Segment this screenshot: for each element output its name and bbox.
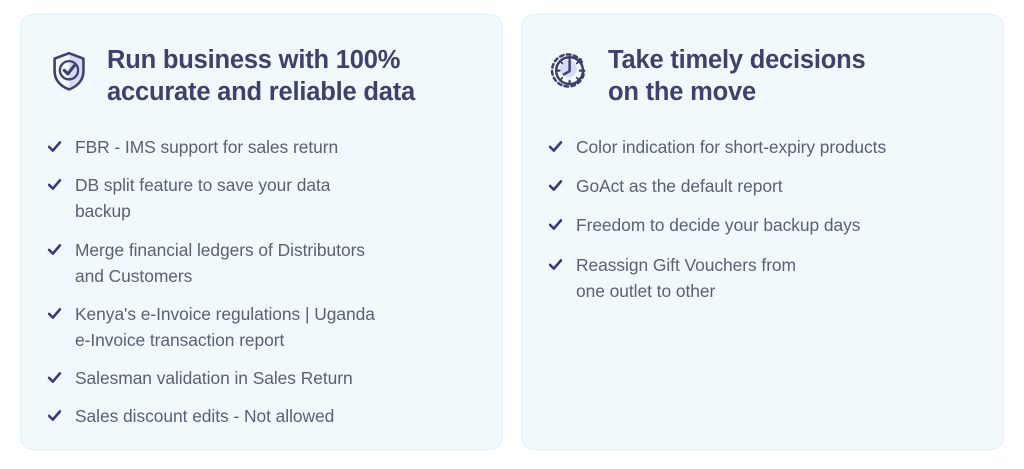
list-item-label: Color indication for short-expiry produc… bbox=[576, 134, 977, 160]
check-icon bbox=[47, 242, 62, 257]
feature-card-accurate-data: Run business with 100% accurate and reli… bbox=[20, 14, 503, 450]
check-icon bbox=[548, 217, 563, 232]
list-item: Merge financial ledgers of Distributors … bbox=[47, 237, 476, 289]
card-header: Take timely decisions on the move bbox=[548, 44, 977, 108]
list-item-label: Freedom to decide your backup days bbox=[576, 212, 977, 238]
feature-list: Color indication for short-expiry produc… bbox=[548, 134, 977, 304]
list-item: Color indication for short-expiry produc… bbox=[548, 134, 977, 160]
check-icon bbox=[548, 139, 563, 154]
card-title: Run business with 100% accurate and reli… bbox=[107, 44, 476, 108]
list-item-label: DB split feature to save your data backu… bbox=[75, 172, 476, 224]
list-item-label: Kenya's e-Invoice regulations | Uganda e… bbox=[75, 301, 476, 353]
feature-card-timely-decisions: Take timely decisions on the move Color … bbox=[521, 14, 1004, 450]
list-item: Sales discount edits - Not allowed bbox=[47, 403, 476, 429]
check-icon bbox=[47, 139, 62, 154]
list-item: Kenya's e-Invoice regulations | Uganda e… bbox=[47, 301, 476, 353]
feature-cards-container: Run business with 100% accurate and reli… bbox=[0, 0, 1024, 469]
list-item-label: Merge financial ledgers of Distributors … bbox=[75, 237, 476, 289]
feature-list: FBR - IMS support for sales return DB sp… bbox=[47, 134, 476, 429]
list-item-label: Sales discount edits - Not allowed bbox=[75, 403, 476, 429]
check-icon bbox=[47, 370, 62, 385]
check-icon bbox=[47, 306, 62, 321]
list-item-label: GoAct as the default report bbox=[576, 173, 977, 199]
list-item: Reassign Gift Vouchers from one outlet t… bbox=[548, 252, 977, 304]
list-item-label: FBR - IMS support for sales return bbox=[75, 134, 476, 160]
card-header: Run business with 100% accurate and reli… bbox=[47, 44, 476, 108]
list-item: GoAct as the default report bbox=[548, 173, 977, 199]
shield-check-icon bbox=[47, 49, 91, 93]
clock-arrow-icon bbox=[548, 49, 592, 93]
list-item: FBR - IMS support for sales return bbox=[47, 134, 476, 160]
list-item: Freedom to decide your backup days bbox=[548, 212, 977, 238]
check-icon bbox=[47, 177, 62, 192]
check-icon bbox=[548, 178, 563, 193]
list-item-label: Salesman validation in Sales Return bbox=[75, 365, 476, 391]
list-item-label: Reassign Gift Vouchers from one outlet t… bbox=[576, 252, 977, 304]
list-item: DB split feature to save your data backu… bbox=[47, 172, 476, 224]
list-item: Salesman validation in Sales Return bbox=[47, 365, 476, 391]
check-icon bbox=[548, 257, 563, 272]
card-title: Take timely decisions on the move bbox=[608, 44, 977, 108]
check-icon bbox=[47, 408, 62, 423]
